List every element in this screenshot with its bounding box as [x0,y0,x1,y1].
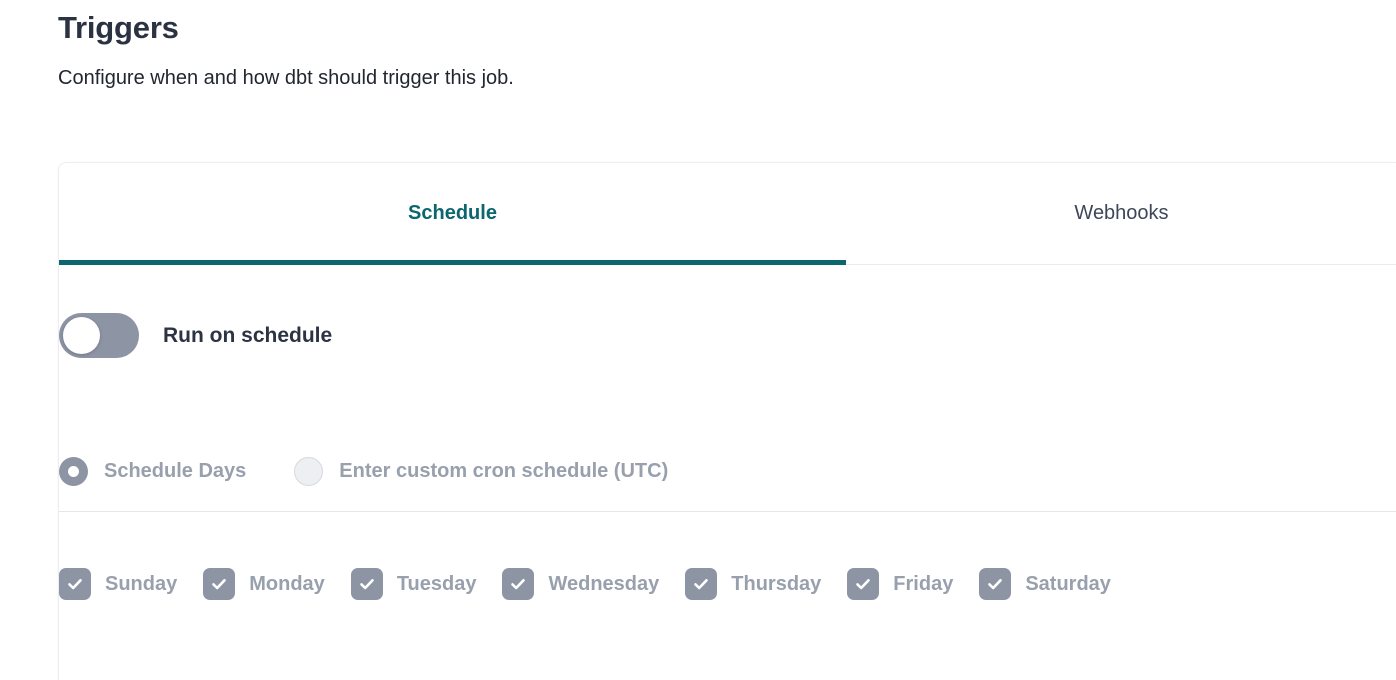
tab-schedule-label: Schedule [408,202,497,225]
radio-selected-icon [59,457,88,486]
radio-option-custom-cron[interactable]: Enter custom cron schedule (UTC) [294,457,668,486]
triggers-page: Triggers Configure when and how dbt shou… [0,0,1396,680]
schedule-mode-group: Schedule Days Enter custom cron schedule… [59,457,668,486]
run-on-schedule-toggle[interactable] [59,313,139,358]
page-subtitle: Configure when and how dbt should trigge… [58,48,1358,92]
check-icon [203,568,235,600]
tab-webhooks-label: Webhooks [1074,202,1168,225]
check-icon [685,568,717,600]
run-on-schedule-label: Run on schedule [163,324,332,348]
page-header: Triggers Configure when and how dbt shou… [58,8,1358,92]
check-icon [59,568,91,600]
toggle-knob [63,317,100,354]
radio-option-schedule-days[interactable]: Schedule Days [59,457,246,486]
check-icon [351,568,383,600]
run-on-schedule-row: Run on schedule [59,313,332,358]
day-checkbox-saturday[interactable]: Saturday [979,568,1111,600]
day-label-monday: Monday [249,573,325,596]
page-title: Triggers [58,8,1358,48]
schedule-days-group: Sunday Monday Tuesday [59,568,1111,600]
check-icon [847,568,879,600]
day-label-wednesday: Wednesday [548,573,659,596]
day-label-sunday: Sunday [105,573,177,596]
triggers-card: Schedule Webhooks Run on schedule Schedu… [58,162,1396,680]
radio-option-custom-cron-label: Enter custom cron schedule (UTC) [339,460,668,483]
section-divider [59,511,1396,512]
check-icon [502,568,534,600]
day-checkbox-tuesday[interactable]: Tuesday [351,568,477,600]
check-icon [979,568,1011,600]
day-label-tuesday: Tuesday [397,573,477,596]
day-checkbox-thursday[interactable]: Thursday [685,568,821,600]
tab-webhooks[interactable]: Webhooks [846,163,1396,264]
tab-bar: Schedule Webhooks [59,163,1396,265]
day-checkbox-wednesday[interactable]: Wednesday [502,568,659,600]
day-checkbox-friday[interactable]: Friday [847,568,953,600]
day-label-saturday: Saturday [1025,573,1111,596]
tab-schedule[interactable]: Schedule [59,163,846,264]
radio-unselected-icon [294,457,323,486]
day-label-thursday: Thursday [731,573,821,596]
day-checkbox-monday[interactable]: Monday [203,568,325,600]
day-checkbox-sunday[interactable]: Sunday [59,568,177,600]
radio-option-schedule-days-label: Schedule Days [104,460,246,483]
day-label-friday: Friday [893,573,953,596]
